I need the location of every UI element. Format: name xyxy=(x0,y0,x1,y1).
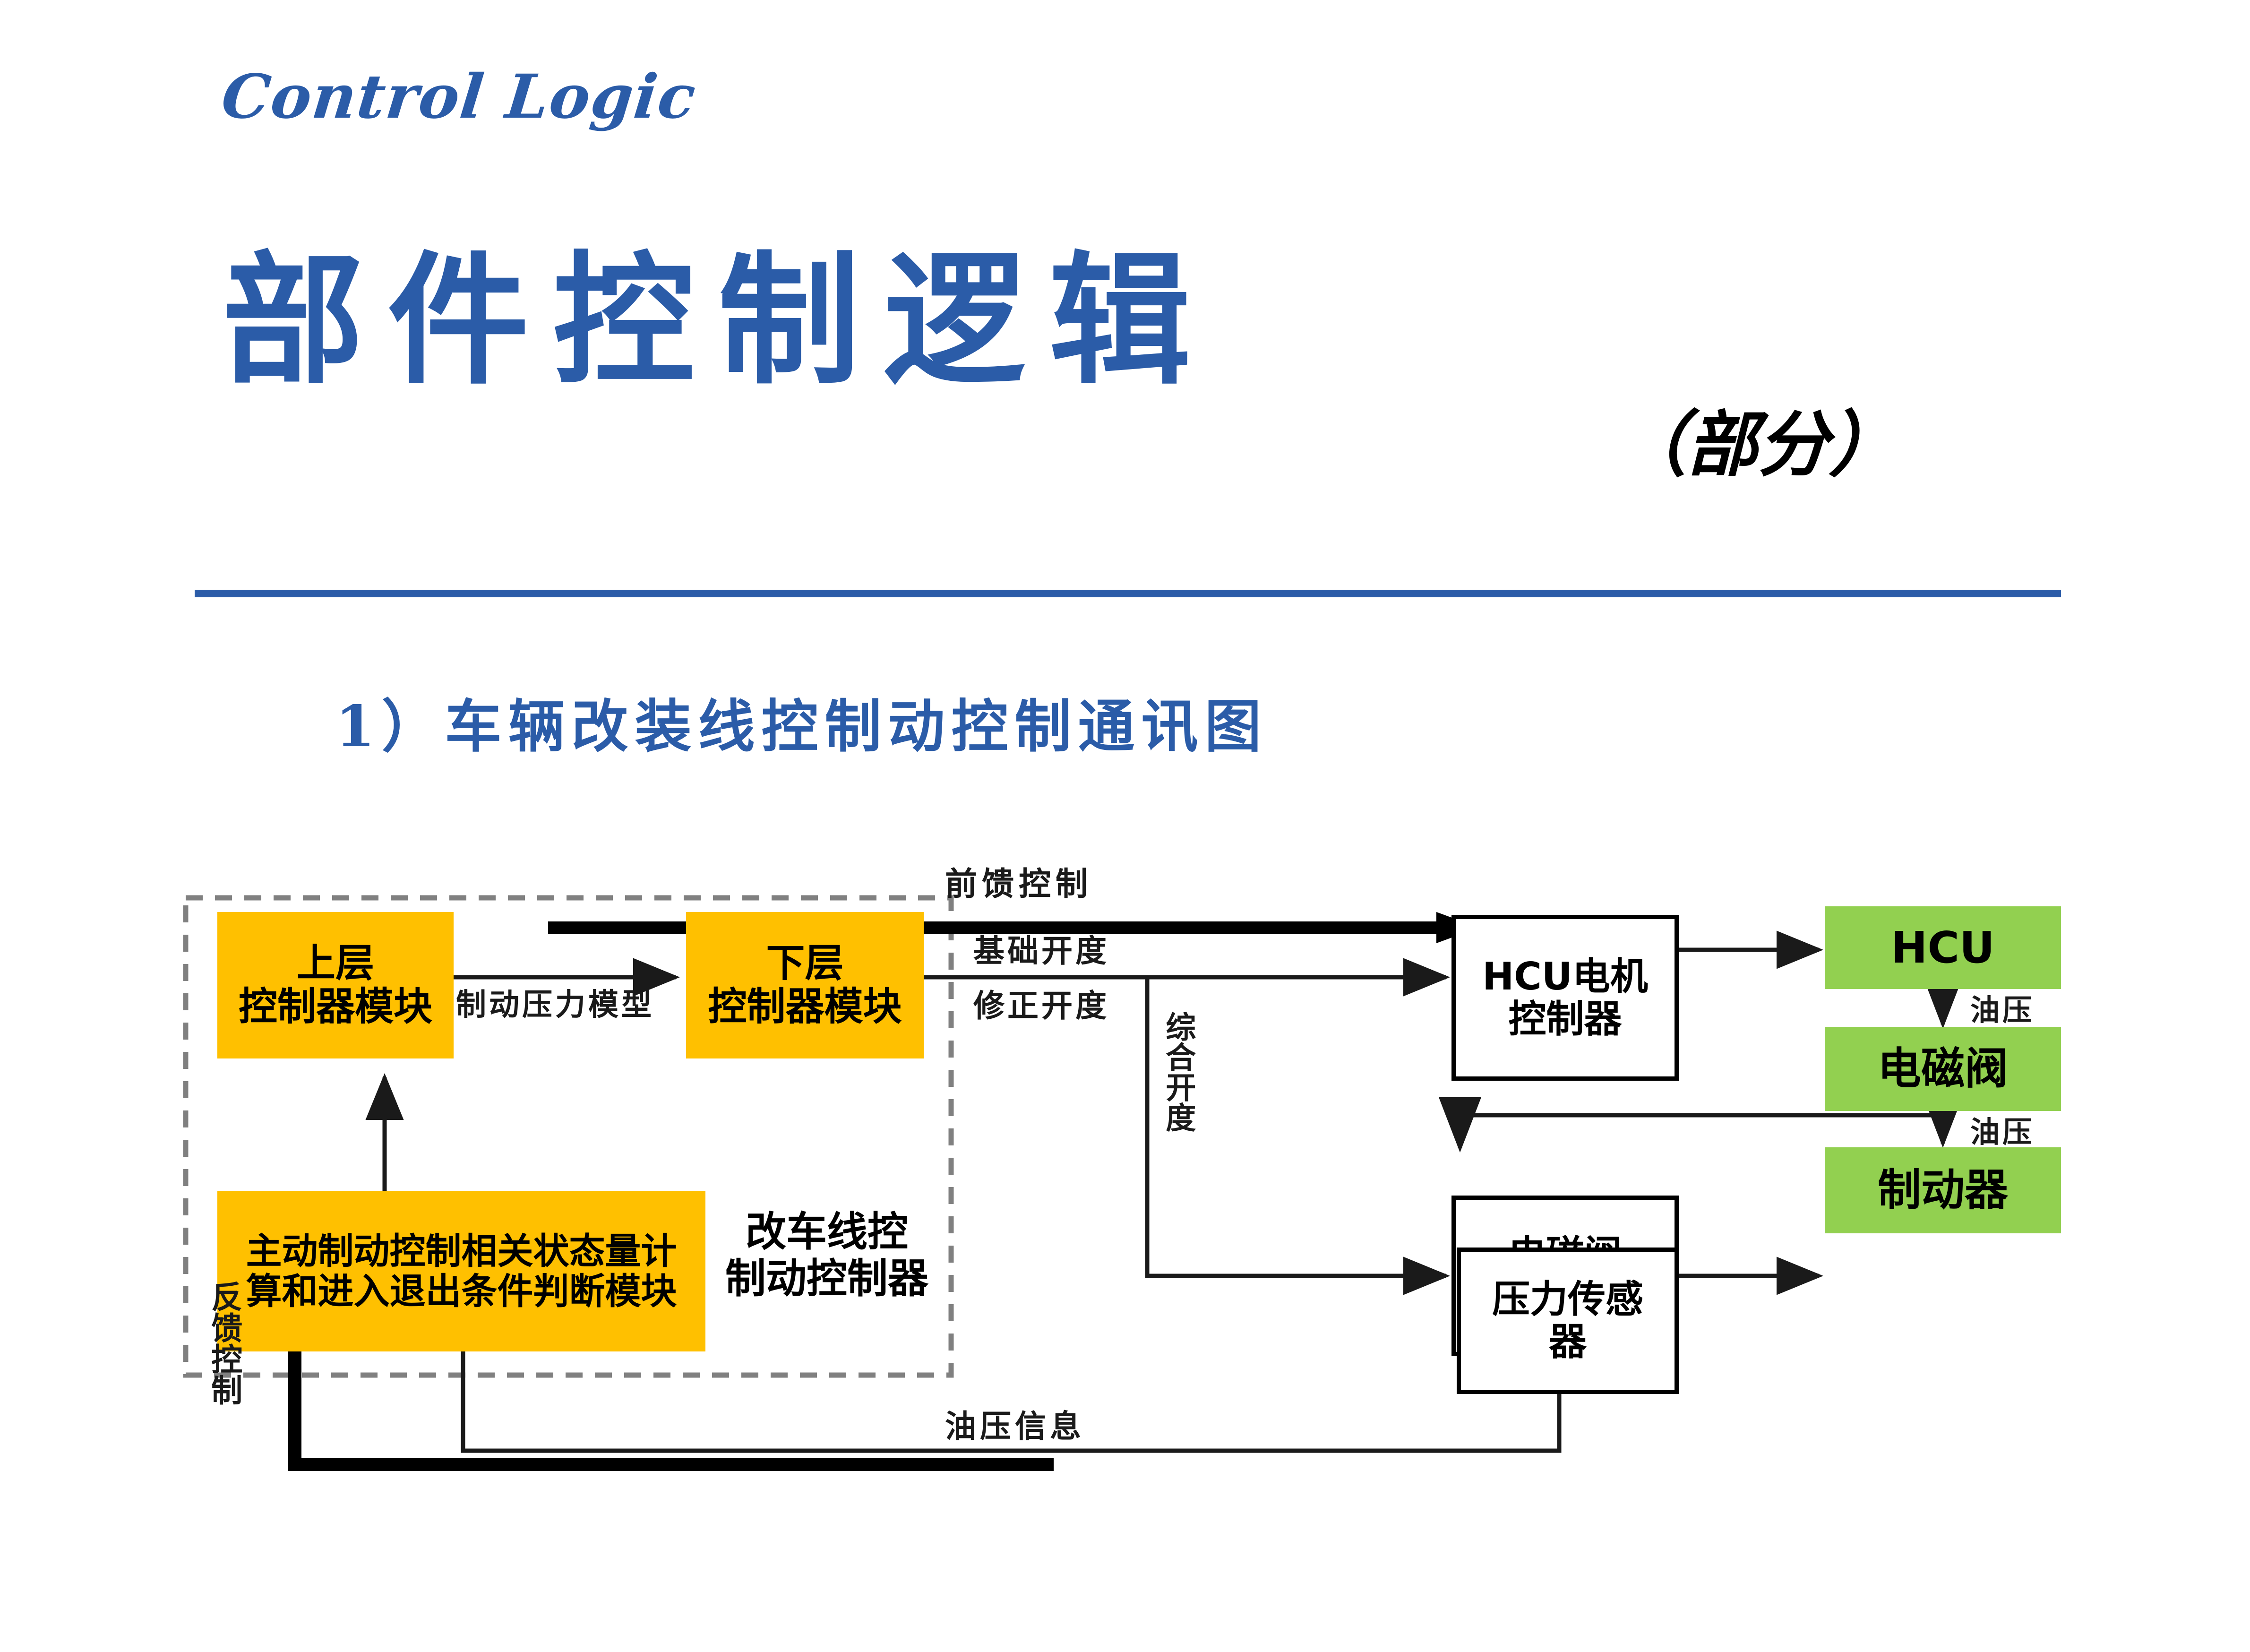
wire-valve-to-pressure-sensor xyxy=(1460,1115,1943,1148)
box-pressure-sensor-main[interactable]: 压力传感 器 xyxy=(1457,1248,1679,1394)
label-oil-pressure-info: 油压信息 xyxy=(945,1407,1085,1445)
box-lower-controller-module[interactable]: 下层 控制器模块 xyxy=(686,912,924,1058)
label-combined-opening: 综合开度 xyxy=(1162,1011,1194,1132)
label-base-opening: 基础开度 xyxy=(973,932,1109,970)
box-upper-controller-module[interactable]: 上层 控制器模块 xyxy=(217,912,454,1058)
label-feedforward: 前馈控制 xyxy=(945,865,1092,904)
box-brake-actuator[interactable]: 制动器 xyxy=(1825,1147,2061,1233)
box-solenoid-valve[interactable]: 电磁阀 xyxy=(1825,1027,2061,1111)
box-hcu[interactable]: HCU xyxy=(1825,906,2061,989)
label-corrected-opening: 修正开度 xyxy=(973,987,1109,1025)
label-brake-pressure-model: 制动压力模型 xyxy=(456,987,654,1024)
label-oil-pressure-valve-to-brake: 油压 xyxy=(1970,1114,2035,1150)
box-active-brake-state-module[interactable]: 主动制动控制相关状态量计 算和进入退出条件判断模块 xyxy=(217,1191,705,1351)
label-oil-pressure-hcu-to-valve: 油压 xyxy=(1970,992,2035,1028)
section-heading: 1）车辆改装线控制动控制通讯图 xyxy=(335,680,1268,763)
script-logo-title: Control Logic xyxy=(218,61,700,132)
box-hcu-motor-controller[interactable]: HCU电机 控制器 xyxy=(1451,915,1679,1081)
page-title: 部件控制逻辑 xyxy=(222,250,1214,392)
page-title-suffix: （部分） xyxy=(1616,387,1899,490)
label-feedback-control: 反馈控制 xyxy=(208,1281,240,1405)
label-brake-controller-group: 改车线控 制动控制器 xyxy=(718,1209,936,1302)
title-divider xyxy=(195,590,2061,597)
control-logic-diagram: 上层 控制器模块 下层 控制器模块 主动制动控制相关状态量计 算和进入退出条件判… xyxy=(0,766,2250,1652)
